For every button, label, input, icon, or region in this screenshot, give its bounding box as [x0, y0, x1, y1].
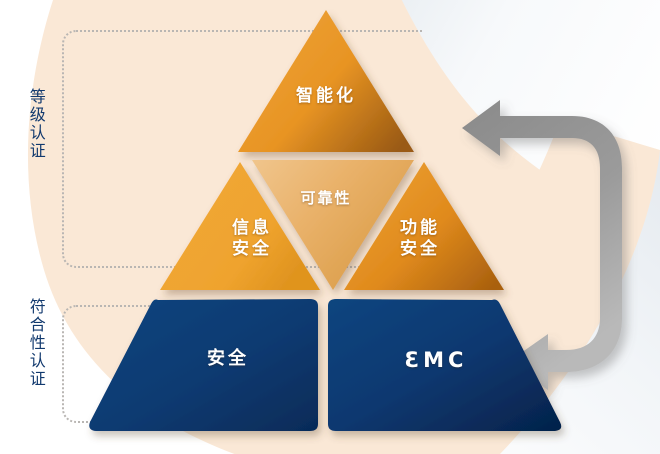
- pyramid-apex-intelligence[interactable]: [238, 10, 414, 152]
- diagram-canvas: 等级认证 符合性认证: [0, 0, 660, 454]
- pyramid-diagram: [0, 0, 660, 454]
- pyramid-base-safety[interactable]: [89, 299, 318, 431]
- pyramid-base-emc[interactable]: [328, 299, 561, 431]
